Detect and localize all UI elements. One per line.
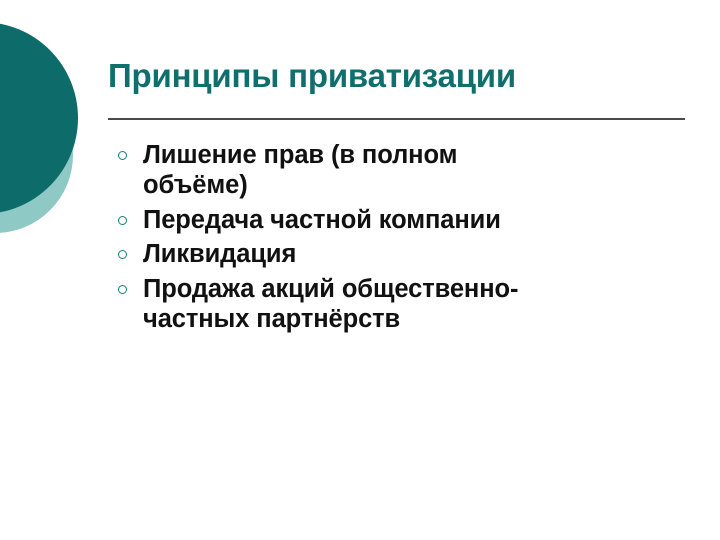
list-item-label: Ликвидация: [143, 240, 612, 270]
presentation-slide: Принципы приватизации Лишение прав (в по…: [0, 0, 720, 540]
title-divider: [108, 118, 685, 120]
hollow-circle-icon: [118, 216, 127, 225]
hollow-circle-icon: [118, 151, 127, 160]
list-item: Ликвидация: [112, 240, 612, 270]
list-item-label: Лишение прав (в полном объёме): [143, 141, 612, 201]
light-teal-circle: [0, 77, 73, 233]
list-item: Лишение прав (в полном объёме): [112, 141, 612, 201]
hollow-circle-icon: [118, 285, 127, 294]
page-title: Принципы приватизации: [108, 58, 686, 95]
title-block: Принципы приватизации: [108, 58, 686, 95]
dark-teal-circle: [0, 22, 78, 214]
hollow-circle-icon: [118, 250, 127, 259]
bullet-list: Лишение прав (в полном объёме) Передача …: [112, 141, 612, 335]
list-item-label: Продажа акций общественно- частных партн…: [143, 275, 612, 335]
list-item-label: Передача частной компании: [143, 206, 612, 236]
list-item: Продажа акций общественно- частных партн…: [112, 275, 612, 335]
list-item: Передача частной компании: [112, 206, 612, 236]
